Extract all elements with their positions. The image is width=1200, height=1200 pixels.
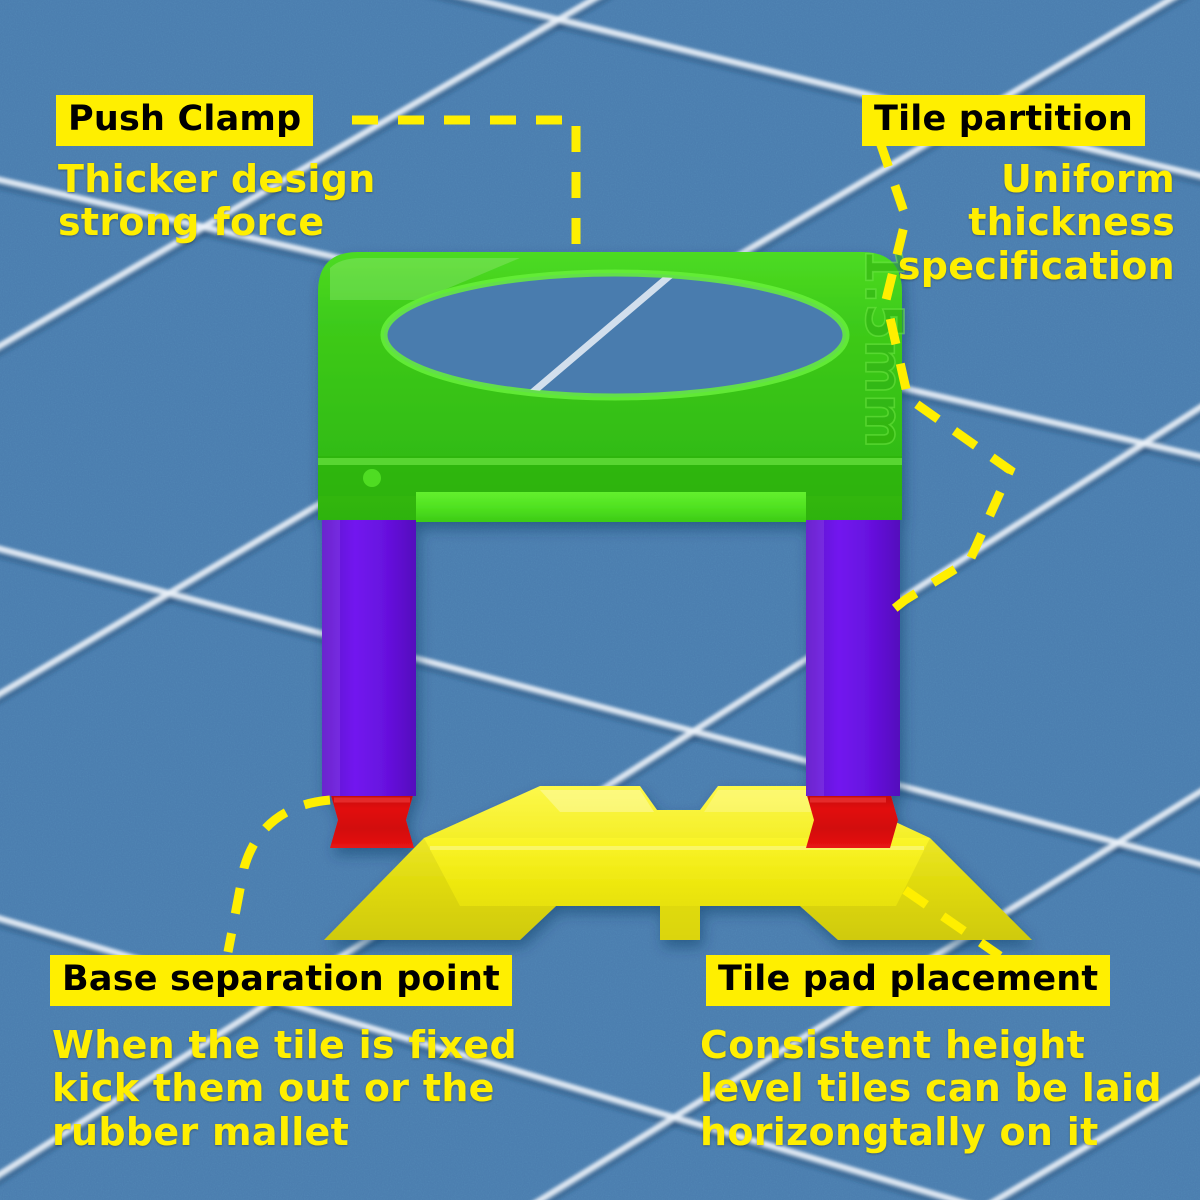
callout-body-push-clamp: Thicker design strong force	[58, 158, 376, 245]
callout-label-base-separation-point: Base separation point	[50, 955, 512, 1006]
leader-base-separation	[228, 800, 330, 952]
callout-body-base-separation-point: When the tile is fixed kick them out or …	[52, 1024, 517, 1154]
callout-body-tile-partition: Uniform thickness specification	[898, 158, 1175, 288]
callout-body-tile-pad-placement: Consistent height level tiles can be lai…	[700, 1024, 1162, 1154]
leader-push-clamp	[352, 120, 576, 256]
leader-tile-pad	[905, 890, 1000, 956]
infographic-canvas: 1.5mm Push Clamp Thicker design strong f…	[0, 0, 1200, 1200]
callout-label-tile-pad-placement: Tile pad placement	[706, 955, 1110, 1006]
callout-label-push-clamp: Push Clamp	[56, 95, 313, 146]
callout-label-tile-partition: Tile partition	[862, 95, 1145, 146]
